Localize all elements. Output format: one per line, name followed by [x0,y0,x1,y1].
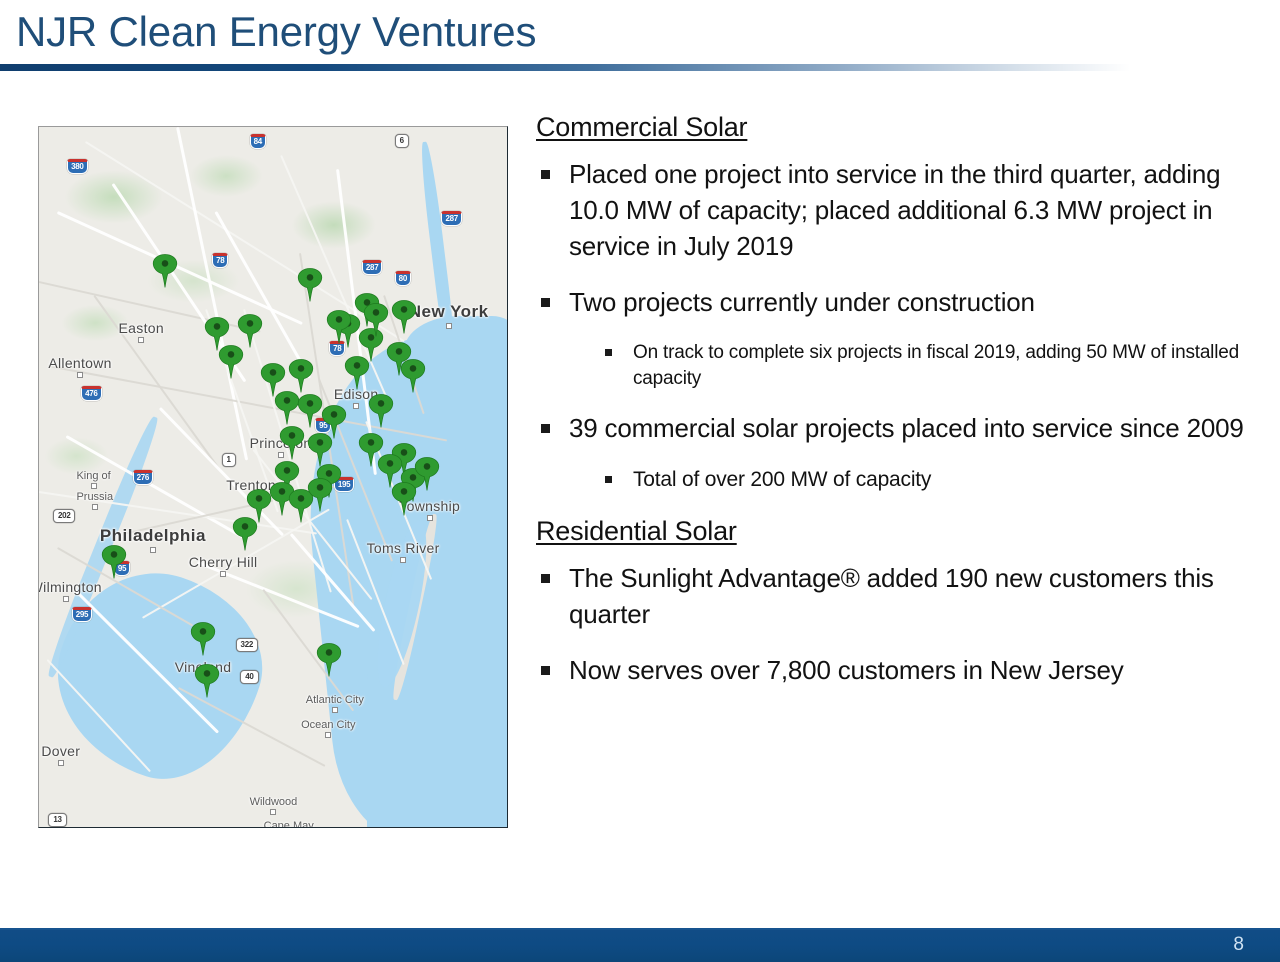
bullet-text: Two projects currently under constructio… [569,287,1035,317]
page-title: NJR Clean Energy Ventures [16,8,536,56]
solar-project-pin-icon[interactable] [288,359,314,393]
sub-bullet-item: On track to complete six projects in fis… [536,340,1248,392]
city-label: Ocean City [301,719,355,738]
solar-project-map[interactable]: 3808462878078287476789512762021959529532… [38,126,508,828]
city-marker-dot [91,483,97,489]
city-label-text: Toms River [367,540,440,556]
city-marker-dot [150,547,156,553]
highway-shield-380: 380 [67,159,87,174]
solar-project-pin-icon[interactable] [377,454,403,488]
solar-project-pin-icon[interactable] [297,394,323,428]
solar-project-pin-icon[interactable] [316,643,342,677]
solar-project-pin-icon[interactable] [400,359,426,393]
city-marker-dot [138,337,144,343]
highway-shield-476: 476 [81,386,101,401]
square-bullet-icon [605,349,612,356]
solar-project-pin-icon[interactable] [344,356,370,390]
city-label-text: Philadelphia [100,526,206,545]
square-bullet-icon [605,476,612,483]
square-bullet-icon [541,574,550,583]
highway-shield-202: 202 [53,509,75,523]
city-label-text: King of [76,470,110,482]
footer-bar: 8 [0,928,1280,962]
city-marker-dot [325,732,331,738]
content-column: Commercial SolarPlaced one project into … [536,112,1248,708]
bullet-text: The Sunlight Advantage® added 190 new cu… [569,563,1214,629]
city-label-text: Cape May [264,820,314,828]
city-label-text: Easton [119,320,164,336]
city-marker-dot [63,596,69,602]
city-label: New York [409,302,489,329]
city-label-text: Prussia [76,491,113,503]
bullet-item: Two projects currently under constructio… [536,284,1248,320]
bullet-item: Now serves over 7,800 customers in New J… [536,652,1248,688]
city-label-text: Ocean City [301,719,355,731]
bullet-text: Placed one project into service in the t… [569,159,1220,261]
solar-project-pin-icon[interactable] [194,664,220,698]
city-label: Prussia [76,491,113,510]
square-bullet-icon [541,424,550,433]
city-marker-dot [427,515,433,521]
city-label: Cherry Hill [189,554,258,577]
solar-project-pin-icon[interactable] [297,268,323,302]
bullet-text: Total of over 200 MW of capacity [633,468,931,491]
solar-project-pin-icon[interactable] [391,300,417,334]
square-bullet-icon [541,666,550,675]
sub-bullet-item: Total of over 200 MW of capacity [536,466,1248,494]
highway-shield-13: 13 [48,813,66,827]
city-marker-dot [270,809,276,815]
bullet-text: On track to complete six projects in fis… [633,342,1239,389]
section-heading: Residential Solar [536,516,1248,547]
city-marker-dot [92,504,98,510]
highway-shield-1: 1 [222,453,236,467]
highway-shield-80: 80 [395,271,411,286]
city-label-text: Dover [41,743,80,759]
solar-project-pin-icon[interactable] [326,310,352,344]
city-label: Easton [119,320,164,343]
city-label: Allentown [48,355,111,378]
city-marker-dot [446,323,452,329]
solar-project-pin-icon[interactable] [368,394,394,428]
city-label-text: New York [409,302,489,321]
highway-shield-84: 84 [250,134,266,149]
solar-project-pin-icon[interactable] [414,457,440,491]
city-marker-dot [332,707,338,713]
highway-shield-40: 40 [240,670,258,684]
bullet-item: The Sunlight Advantage® added 190 new cu… [536,560,1248,632]
highway-shield-295: 295 [72,607,92,622]
highway-shield-287: 287 [441,211,461,226]
city-label-text: Cherry Hill [189,554,258,570]
solar-project-pin-icon[interactable] [218,345,244,379]
solar-project-pin-icon[interactable] [307,433,333,467]
highway-shield-6: 6 [395,134,409,148]
city-label-text: Allentown [48,355,111,371]
city-label: King of [76,470,110,489]
solar-project-pin-icon[interactable] [279,426,305,460]
solar-project-pin-icon[interactable] [190,622,216,656]
solar-project-pin-icon[interactable] [101,545,127,579]
city-label-text: Atlantic City [306,694,364,706]
city-label: Dover [41,743,80,766]
solar-project-pin-icon[interactable] [307,478,333,512]
city-label: Cape May [264,820,314,828]
city-label: Wildwood [250,796,298,815]
city-label-text: Wilmington [38,579,102,595]
bullet-item: Placed one project into service in the t… [536,156,1248,264]
highway-shield-287: 287 [362,260,382,275]
city-label: Toms River [367,540,440,563]
solar-project-pin-icon[interactable] [152,254,178,288]
solar-project-pin-icon[interactable] [237,314,263,348]
city-marker-dot [353,403,359,409]
city-marker-dot [77,372,83,378]
page-number: 8 [1233,934,1244,956]
city-label-text: Wildwood [250,796,298,808]
solar-project-pin-icon[interactable] [274,391,300,425]
bullet-item: 39 commercial solar projects placed into… [536,410,1248,446]
solar-project-pin-icon[interactable] [232,517,258,551]
city-label: Wilmington [38,579,102,602]
city-label: Atlantic City [306,694,364,713]
section-heading: Commercial Solar [536,112,1248,143]
title-divider [0,64,1130,71]
bullet-text: 39 commercial solar projects placed into… [569,413,1244,443]
city-marker-dot [400,557,406,563]
city-marker-dot [58,760,64,766]
city-marker-dot [220,571,226,577]
square-bullet-icon [541,298,550,307]
bullet-text: Now serves over 7,800 customers in New J… [569,655,1124,685]
solar-project-pin-icon[interactable] [363,303,389,337]
highway-shield-276: 276 [133,470,153,485]
square-bullet-icon [541,170,550,179]
highway-shield-322: 322 [236,638,258,652]
highway-shield-78: 78 [212,253,228,268]
